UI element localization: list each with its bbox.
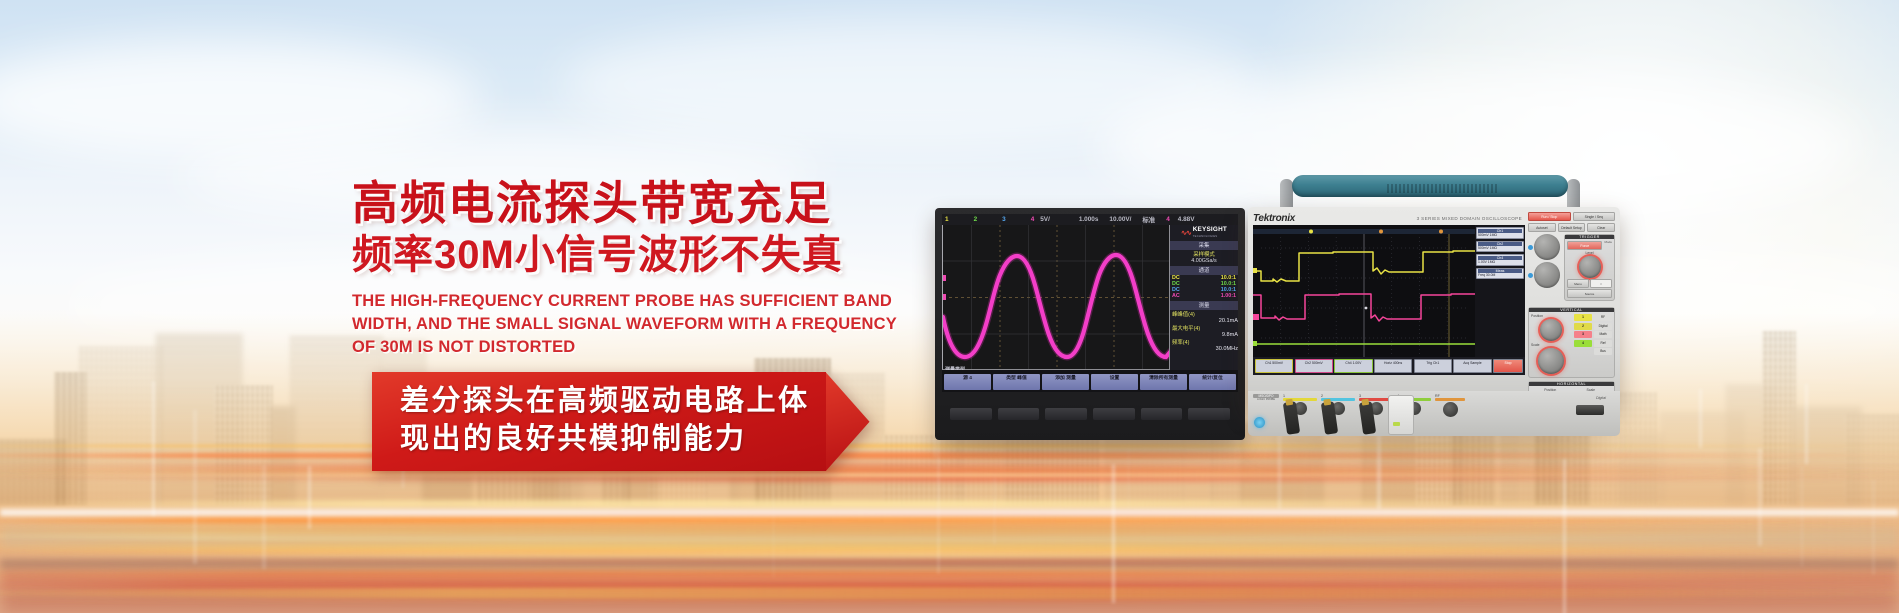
ks-ch1-label: 1 bbox=[945, 216, 949, 223]
tektronix-display-section: Tektronix 3 SERIES MIXED DOMAIN OSCILLOS… bbox=[1253, 212, 1525, 400]
vertical-group-title: VERTICAL bbox=[1529, 308, 1614, 312]
bnc-connector-rf bbox=[1443, 402, 1458, 417]
tektronix-chassis: Tektronix 3 SERIES MIXED DOMAIN OSCILLOS… bbox=[1248, 207, 1620, 405]
multipurpose-knob-b[interactable] bbox=[1534, 262, 1560, 288]
ks-softkey-type[interactable]: 类型 峰值 bbox=[993, 374, 1040, 390]
ks-bezel-button[interactable] bbox=[1141, 408, 1183, 420]
oscilloscope-photo-group: 1 2 3 4 5V/ 1.000s 10.00V/ 标准 4 4.88V bbox=[0, 0, 1899, 613]
tk-badge-ch1[interactable]: Ch1 500mV 1MΩ bbox=[1476, 227, 1524, 239]
keysight-logo: ∿∿ KEYSIGHT TECHNOLOGIES bbox=[1170, 225, 1238, 241]
headline-line-1: 高频电流探头带宽充足 bbox=[352, 178, 912, 230]
ks-acq-mode: 采样模式 bbox=[1170, 250, 1238, 258]
trigger-menu-button[interactable]: Menu bbox=[1567, 279, 1589, 288]
digital-port[interactable] bbox=[1576, 405, 1604, 415]
channel-1-button[interactable]: 1 bbox=[1574, 314, 1592, 321]
ks-bezel-button[interactable] bbox=[998, 408, 1040, 420]
keysight-status-bar: 1 2 3 4 5V/ 1.000s 10.00V/ 标准 4 4.88V bbox=[942, 214, 1238, 225]
multipurpose-a-indicator bbox=[1528, 245, 1533, 250]
tektronix-model-label: 3 SERIES MIXED DOMAIN OSCILLOSCOPE bbox=[1417, 216, 1525, 221]
ribbon-line-1: 差分探头在高频驱动电路上体 bbox=[400, 383, 810, 421]
ks-meas-3-label: 频率(4) bbox=[1170, 338, 1238, 346]
keysight-waveform-svg bbox=[943, 225, 1170, 370]
tk-badge-ch4[interactable]: Ch4 1.00V 1MΩ bbox=[1476, 254, 1524, 266]
tektronix-bottom-bar: Ch1 500mV Ch2 500mV Ch4 1.00V Horiz 400n… bbox=[1253, 357, 1525, 375]
ks-acq-header: 采集 bbox=[1170, 241, 1238, 250]
subtitle-english: THE HIGH-FREQUENCY CURRENT PROBE HAS SUF… bbox=[352, 290, 908, 360]
tk-badge-meas[interactable]: Meas Freq 30.0M bbox=[1476, 268, 1524, 280]
ks-ch4-label: 4 bbox=[1031, 216, 1035, 223]
tk-badge-ch4-body: 1.00V 1MΩ bbox=[1478, 260, 1522, 265]
ks-time-pos: 1.000s bbox=[1079, 216, 1099, 223]
ribbon-body: 差分探头在高频驱动电路上体 现出的良好共模抑制能力 bbox=[372, 372, 826, 471]
keysight-plot-area: ∿∿ KEYSIGHT TECHNOLOGIES 采集 采样模式 4.00GSa… bbox=[942, 225, 1238, 370]
trigger-group-title: TRIGGER bbox=[1565, 235, 1614, 239]
ks-time-scale: 10.00V/ bbox=[1109, 216, 1131, 223]
ks-bezel-button[interactable] bbox=[1093, 408, 1135, 420]
multipurpose-knob-a[interactable] bbox=[1534, 234, 1560, 260]
ks-meas-1-label: 峰峰值(4) bbox=[1170, 310, 1238, 318]
headline-line-2: 频率30M小信号波形不失真 bbox=[352, 230, 912, 280]
tektronix-waveform-svg bbox=[1253, 225, 1475, 375]
multipurpose-b-indicator bbox=[1528, 273, 1533, 278]
headline-block: 高频电流探头带宽充足 频率30M小信号波形不失真 THE HIGH-FREQUE… bbox=[352, 178, 912, 360]
power-button[interactable] bbox=[1254, 417, 1265, 428]
keysight-brand-tagline: TECHNOLOGIES bbox=[1193, 234, 1218, 238]
rf-button[interactable]: RF bbox=[1594, 314, 1612, 321]
vertical-scale-label: Scale bbox=[1531, 343, 1571, 347]
tk-btn-ch4[interactable]: Ch4 1.00V bbox=[1334, 359, 1372, 373]
tk-btn-acq[interactable]: Acq Sample bbox=[1453, 359, 1491, 373]
tk-badge-ch2-body: 500mV 1MΩ bbox=[1478, 246, 1522, 251]
single-seq-button[interactable]: Single / Seq bbox=[1573, 212, 1616, 221]
trigger-force-button[interactable]: Force bbox=[1567, 241, 1602, 250]
ks-softkey-add-meas[interactable]: 添加 测量 bbox=[1042, 374, 1089, 390]
vertical-position-label: Position bbox=[1531, 314, 1571, 318]
math-button[interactable]: Math bbox=[1594, 331, 1612, 338]
tk-badge-ch1-body: 500mV 1MΩ bbox=[1478, 233, 1522, 238]
clear-button[interactable]: Clear bbox=[1587, 223, 1615, 232]
input-channel-2[interactable]: 2 bbox=[1321, 394, 1355, 415]
channel-3-button[interactable]: 3 bbox=[1574, 331, 1592, 338]
ks-softkey-stats[interactable]: 统计/复位 bbox=[1189, 374, 1236, 390]
ribbon-arrow-tip bbox=[826, 372, 870, 471]
usb-flash-drive bbox=[1388, 395, 1414, 435]
trigger-source-button[interactable]: Source bbox=[1567, 289, 1612, 298]
ks-meas-2-label: 最大电平(4) bbox=[1170, 324, 1238, 332]
ks-trigger-level: 4.88V bbox=[1178, 216, 1195, 223]
keysight-softkey-bar: 源 4 类型 峰值 添加 测量 设置 清除所有测量 统计/复位 bbox=[942, 370, 1238, 392]
default-setup-button[interactable]: Default Setup bbox=[1558, 223, 1586, 232]
trigger-mode-label: Mode bbox=[1603, 241, 1612, 250]
tk-panel-primary-row: Run / Stop Single / Seq bbox=[1528, 212, 1615, 221]
input-rf[interactable]: RF bbox=[1435, 394, 1465, 417]
tektronix-oscilloscope: Tektronix 3 SERIES MIXED DOMAIN OSCILLOS… bbox=[1248, 175, 1620, 440]
ks-softkey-clear-all[interactable]: 清除所有测量 bbox=[1140, 374, 1187, 390]
ks-softkey-source[interactable]: 源 4 bbox=[944, 374, 991, 390]
input-rf-stripe bbox=[1435, 398, 1465, 401]
tk-btn-ch2[interactable]: Ch2 500mV bbox=[1295, 359, 1333, 373]
trigger-group: TRIGGER Force Mode Level Menu ⎍ S bbox=[1564, 234, 1615, 301]
digital-button[interactable]: Digital bbox=[1594, 323, 1612, 330]
tektronix-brand-bar: Tektronix 3 SERIES MIXED DOMAIN OSCILLOS… bbox=[1253, 212, 1525, 225]
vertical-position-knob[interactable] bbox=[1540, 319, 1562, 341]
tk-badge-meas-body: Freq 30.0M bbox=[1478, 273, 1522, 278]
ks-bezel-button[interactable] bbox=[950, 408, 992, 420]
ks-ch4-coupling: AC bbox=[1172, 293, 1180, 299]
ks-chan-header: 通道 bbox=[1170, 266, 1238, 275]
keysight-side-panel: ∿∿ KEYSIGHT TECHNOLOGIES 采集 采样模式 4.00GSa… bbox=[1170, 225, 1238, 370]
ribbon-line-2: 现出的良好共模抑制能力 bbox=[400, 421, 810, 459]
keysight-brand-name: KEYSIGHT bbox=[1193, 226, 1227, 233]
channel-2-button[interactable]: 2 bbox=[1574, 323, 1592, 330]
ks-ch4-value: 1.00:1 bbox=[1221, 293, 1236, 299]
ks-ch3-label: 3 bbox=[1002, 216, 1006, 223]
autoset-button[interactable]: Autoset bbox=[1528, 223, 1556, 232]
vertical-scale-knob[interactable] bbox=[1538, 348, 1564, 374]
keysight-screen: 1 2 3 4 5V/ 1.000s 10.00V/ 标准 4 4.88V bbox=[942, 214, 1238, 392]
ks-bezel-button[interactable] bbox=[1045, 408, 1087, 420]
tk-btn-ch1[interactable]: Ch1 500mV bbox=[1255, 359, 1293, 373]
input-channel-1[interactable]: 1 bbox=[1283, 394, 1317, 415]
trigger-slope-icon[interactable]: ⎍ bbox=[1590, 279, 1612, 288]
keysight-logo-mark: ∿∿ bbox=[1181, 229, 1191, 237]
tk-btn-trig[interactable]: Trig Ch1 bbox=[1414, 359, 1452, 373]
digital-port-label: Digital bbox=[1596, 396, 1606, 400]
tektronix-screen[interactable]: Ch1 500mV 1MΩ Ch2 500mV 1MΩ Ch4 1.00V 1M… bbox=[1253, 225, 1525, 375]
vertical-group: VERTICAL Position Scale 1 bbox=[1528, 307, 1615, 378]
tk-panel-secondary-row: Autoset Default Setup Clear bbox=[1528, 223, 1615, 232]
keysight-graticule bbox=[942, 225, 1170, 370]
tk-btn-run-state[interactable]: Stop bbox=[1493, 359, 1523, 373]
promo-banner: 高频电流探头带宽充足 频率30M小信号波形不失真 THE HIGH-FREQUE… bbox=[0, 0, 1899, 613]
run-stop-button[interactable]: Run / Stop bbox=[1528, 212, 1571, 221]
ks-trigger-mode: 标准 bbox=[1142, 215, 1155, 224]
trigger-level-label: Level bbox=[1567, 251, 1612, 255]
ks-vertical-scale: 5V/ bbox=[1040, 216, 1050, 223]
tektronix-graticule bbox=[1253, 225, 1475, 375]
trigger-level-knob[interactable] bbox=[1579, 256, 1601, 278]
handle-grip bbox=[1292, 175, 1568, 197]
tk-btn-horiz[interactable]: Horiz 400ns bbox=[1374, 359, 1412, 373]
ks-ch2-label: 2 bbox=[974, 216, 978, 223]
tektronix-input-panel: MSO/DPO LOGIC PROBE 1 2 3 bbox=[1248, 391, 1620, 436]
tektronix-brand-name: Tektronix bbox=[1253, 213, 1295, 224]
ks-bezel-button[interactable] bbox=[1188, 408, 1230, 420]
bus-button[interactable]: Bus bbox=[1594, 348, 1612, 355]
ks-acq-rate: 4.00GSa/s bbox=[1170, 258, 1238, 264]
ks-softkey-settings[interactable]: 设置 bbox=[1091, 374, 1138, 390]
tk-badge-ch2[interactable]: Ch2 500mV 1MΩ bbox=[1476, 241, 1524, 253]
ref-button[interactable]: Ref bbox=[1594, 340, 1612, 347]
tektronix-front-panel: Run / Stop Single / Seq Autoset Default … bbox=[1525, 212, 1615, 400]
logic-probe-sublabel: LOGIC PROBE bbox=[1253, 398, 1279, 401]
ks-meas-header: 测量 bbox=[1170, 301, 1238, 310]
horizontal-group-title: HORIZONTAL bbox=[1529, 382, 1614, 386]
tektronix-side-badges: Ch1 500mV 1MΩ Ch2 500mV 1MΩ Ch4 1.00V 1M… bbox=[1475, 225, 1525, 375]
ks-meas-3-value: 30.0MHz bbox=[1170, 346, 1238, 352]
keysight-bezel-buttons bbox=[942, 392, 1238, 436]
channel-4-button[interactable]: 4 bbox=[1574, 340, 1592, 347]
ks-trigger-channel: 4 bbox=[1166, 216, 1170, 223]
callout-ribbon: 差分探头在高频驱动电路上体 现出的良好共模抑制能力 bbox=[372, 372, 870, 471]
keysight-oscilloscope: 1 2 3 4 5V/ 1.000s 10.00V/ 标准 4 4.88V bbox=[935, 208, 1245, 440]
